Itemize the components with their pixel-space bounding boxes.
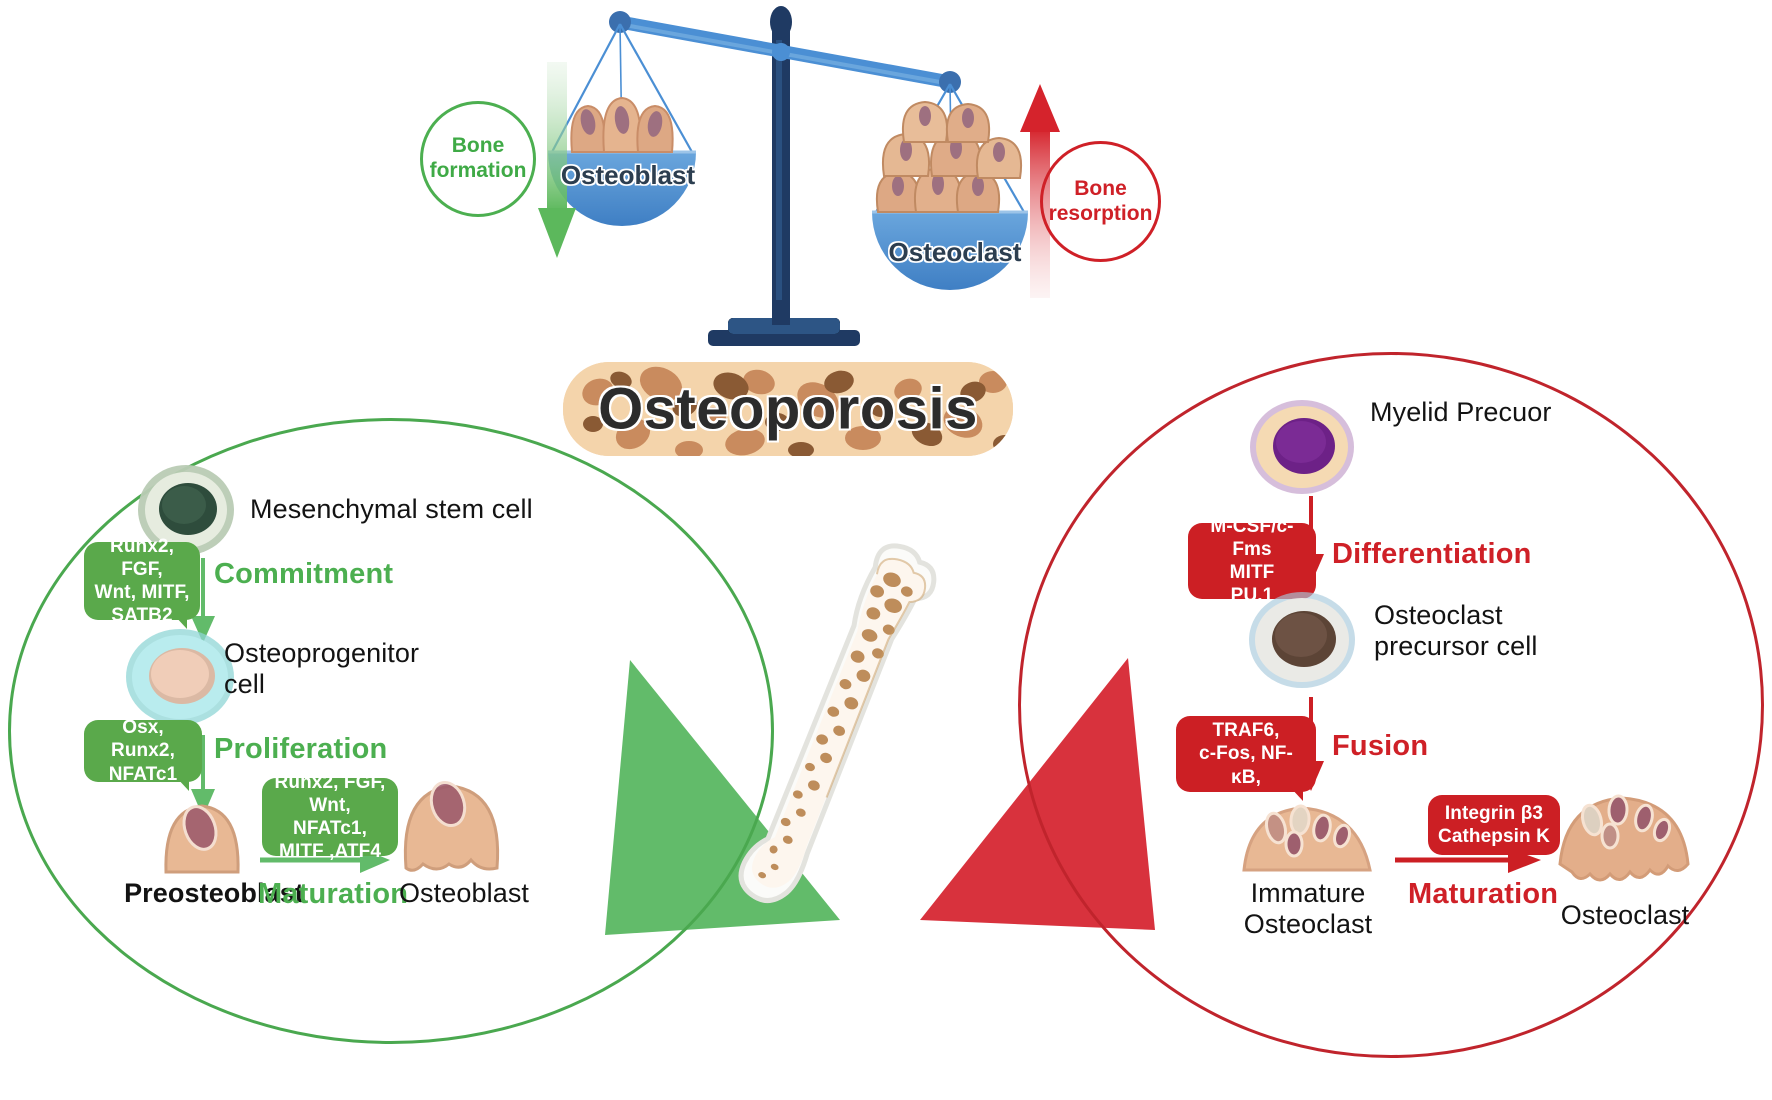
differentiation-label: Differentiation	[1332, 538, 1532, 571]
osteoprogenitor-cell-label: Osteoprogenitor cell	[224, 638, 454, 700]
osteoblast-label: Osteoblast	[384, 878, 544, 909]
maturation-label-red: Maturation	[1408, 878, 1558, 911]
osteoclast-precursor-cell-icon	[1242, 583, 1367, 698]
osteoclast-precursor-cell-label: Osteoclast precursor cell	[1374, 600, 1624, 662]
commitment-gene-text: Runx2, FGF, Wnt, MITF, SATB2	[94, 535, 190, 628]
immature-osteoclast-label: Immature Osteoclast	[1218, 878, 1398, 940]
fusion-gene-box: RANKL, TRAF6, c-Fos, NF-κB, NFATC1	[1176, 716, 1316, 792]
bone-formation-label: Bone formation	[423, 134, 533, 184]
commitment-gene-box: Runx2, FGF, Wnt, MITF, SATB2	[84, 542, 200, 620]
preosteoblast-icon	[150, 790, 260, 880]
immature-osteoclast-icon	[1232, 786, 1382, 881]
proliferation-gene-box: Osx, Runx2, NFATc1	[84, 720, 202, 782]
proliferation-label: Proliferation	[214, 733, 387, 766]
commitment-label: Commitment	[214, 558, 393, 591]
maturation-gene-text-green: Runx2, FGF, Wnt, NFATc1, MITF ,ATF4	[272, 771, 388, 864]
bone-resorption-badge: Bone resorption	[1040, 141, 1161, 262]
proliferation-gene-text: Osx, Runx2, NFATc1	[94, 716, 192, 786]
osteoporosis-title: Osteoporosis	[563, 376, 1013, 443]
fusion-label: Fusion	[1332, 730, 1428, 763]
gene-box-tail	[176, 777, 189, 791]
maturation-gene-box-green: Runx2, FGF, Wnt, NFATc1, MITF ,ATF4	[262, 778, 398, 856]
mature-osteoclast-label: Osteoclast	[1540, 900, 1710, 931]
left-pan-label: Osteoblast	[553, 160, 703, 191]
right-pan-label: Osteoclast	[875, 237, 1035, 268]
myeloid-precursor-label: Myelid Precuor	[1370, 397, 1670, 428]
myeloid-precursor-icon	[1242, 392, 1362, 502]
bone-formation-badge: Bone formation	[420, 101, 536, 217]
bone-resorption-label: Bone resorption	[1043, 177, 1158, 227]
mesenchymal-stem-cell-label: Mesenchymal stem cell	[250, 494, 550, 525]
maturation-gene-text-red: Integrin β3 Cathepsin K	[1438, 802, 1550, 848]
figure-canvas: Bone formation Bone resorption Osteoblas…	[0, 0, 1772, 1100]
maturation-gene-box-red: Integrin β3 Cathepsin K	[1428, 795, 1560, 855]
osteoporosis-banner: Osteoporosis	[563, 362, 1013, 456]
left-pan	[548, 24, 696, 226]
osteoblast-icon	[392, 770, 512, 880]
mature-osteoclast-icon	[1544, 780, 1704, 895]
osteoclast-pathway-circle	[1018, 352, 1764, 1058]
